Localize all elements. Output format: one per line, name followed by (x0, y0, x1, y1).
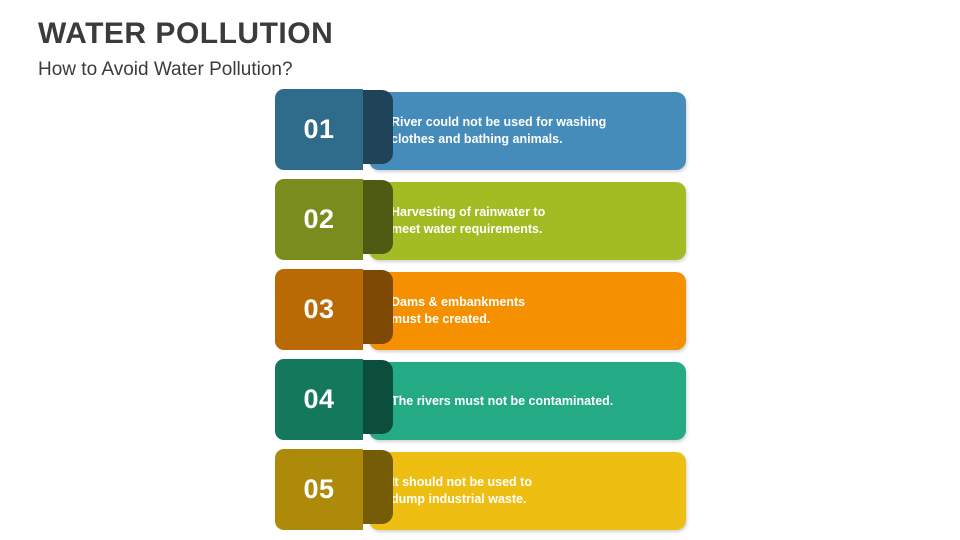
step-row[interactable]: The rivers must not be contaminated.04 (275, 359, 686, 440)
step-number-plate[interactable]: 04 (275, 359, 363, 440)
step-number-plate[interactable]: 05 (275, 449, 363, 530)
step-description: The rivers must not be contaminated. (369, 393, 625, 410)
step-number: 03 (303, 296, 334, 323)
step-description: Harvesting of rainwater to meet water re… (369, 204, 557, 238)
step-description: Dams & embankments must be created. (369, 294, 537, 328)
page-title: WATER POLLUTION (38, 14, 638, 54)
step-row[interactable]: Dams & embankments must be created.03 (275, 269, 686, 350)
steps-list: River could not be used for washing clot… (275, 89, 686, 540)
page-subtitle: How to Avoid Water Pollution? (38, 57, 638, 83)
step-row[interactable]: It should not be used to dump industrial… (275, 449, 686, 530)
step-body-panel[interactable]: River could not be used for washing clot… (369, 92, 686, 170)
step-number-plate[interactable]: 02 (275, 179, 363, 260)
step-body-panel[interactable]: It should not be used to dump industrial… (369, 452, 686, 530)
step-body-panel[interactable]: Dams & embankments must be created. (369, 272, 686, 350)
step-row[interactable]: Harvesting of rainwater to meet water re… (275, 179, 686, 260)
step-body-panel[interactable]: Harvesting of rainwater to meet water re… (369, 182, 686, 260)
step-number: 04 (303, 386, 334, 413)
step-number: 05 (303, 476, 334, 503)
slide-header: WATER POLLUTION How to Avoid Water Pollu… (38, 14, 638, 83)
step-row[interactable]: River could not be used for washing clot… (275, 89, 686, 170)
step-body-panel[interactable]: The rivers must not be contaminated. (369, 362, 686, 440)
step-number-plate[interactable]: 03 (275, 269, 363, 350)
step-number: 01 (303, 116, 334, 143)
step-number: 02 (303, 206, 334, 233)
slide-canvas: WATER POLLUTION How to Avoid Water Pollu… (0, 0, 960, 540)
step-description: It should not be used to dump industrial… (369, 474, 544, 508)
step-description: River could not be used for washing clot… (369, 114, 618, 148)
step-number-plate[interactable]: 01 (275, 89, 363, 170)
